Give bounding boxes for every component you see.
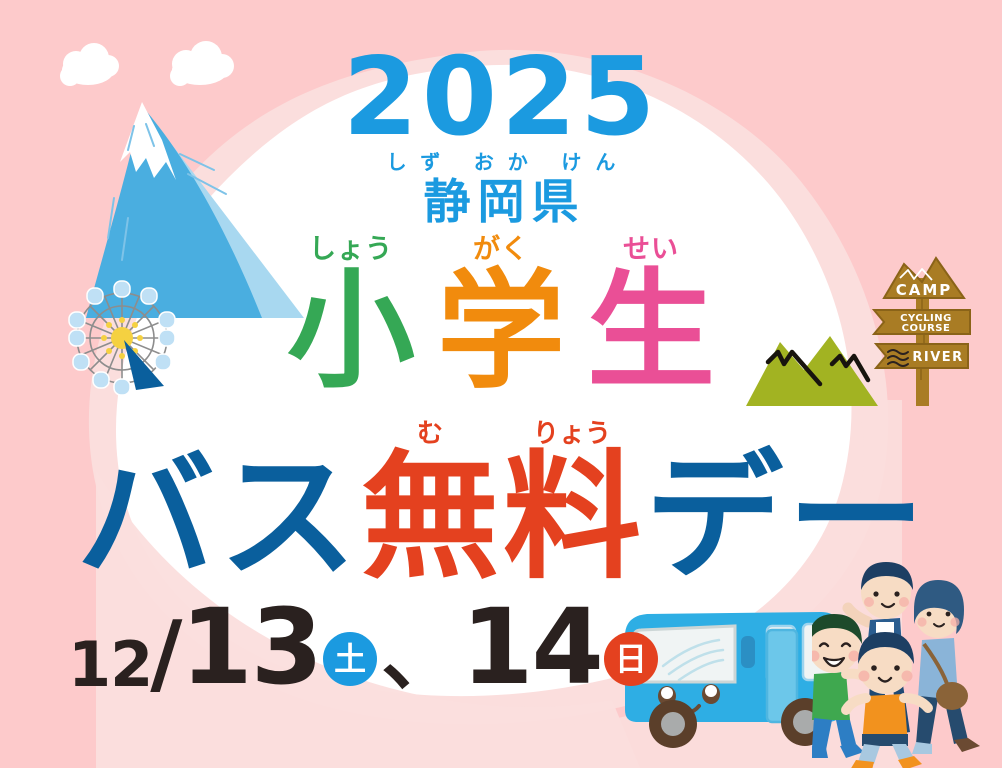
grade-char-gaku: がく 学	[437, 236, 565, 398]
grade-furigana-sho: しょう	[309, 236, 393, 263]
bus-mirror-right	[741, 636, 755, 668]
grade-char-sho: しょう 小	[287, 236, 415, 398]
prefecture-block: しず おか けん 静岡県	[0, 152, 1002, 228]
weekday-badge-saturday: 土	[323, 632, 377, 686]
headline-char-de: デ	[645, 446, 783, 589]
grade-furigana-gaku: がく	[473, 236, 529, 263]
date-separator: 、	[381, 618, 459, 696]
date-slash: /	[150, 612, 182, 696]
headline-char-dash: ー	[787, 446, 925, 589]
weekday-badge-sunday: 日	[604, 632, 658, 686]
grade-kanji-sho: 小	[287, 267, 415, 398]
headline-kanji-ryo: 料	[503, 448, 641, 589]
headline-char-mu: む 無	[361, 420, 499, 589]
date-block: 12 / 13 土 、 14 日	[68, 600, 660, 696]
grade-char-sei: せい 生	[587, 236, 715, 398]
headline-kanji-mu: 無	[361, 448, 499, 589]
headline-char-su: ス	[219, 446, 357, 589]
prefecture-furigana: しず おか けん	[14, 152, 1002, 174]
grade-kanji-gaku: 学	[437, 267, 565, 398]
grade-kanji-sei: 生	[587, 267, 715, 398]
poster-canvas: CAMP CYCLING COURSE RIVER	[0, 0, 1002, 768]
headline-char-ryo: りょう 料	[503, 420, 641, 589]
headline-kana-su: ス	[219, 448, 357, 589]
prefecture-name: 静岡県	[7, 176, 1002, 228]
date-day-first: 13	[180, 600, 321, 696]
headline-char-ba: バ	[77, 446, 215, 589]
grade-block: しょう 小 がく 学 せい 生	[0, 236, 1002, 398]
year-heading: 2025	[0, 44, 1002, 152]
family-mother	[912, 580, 980, 754]
date-day-second: 14	[461, 600, 602, 696]
date-month: 12	[68, 634, 152, 696]
headline-block: バ ス む 無 りょう 料 デ ー	[0, 420, 1002, 589]
headline-kana-ba: バ	[77, 448, 215, 589]
grade-furigana-sei: せい	[623, 236, 679, 263]
headline-kana-dash: ー	[787, 448, 925, 589]
headline-kana-de: デ	[645, 448, 783, 589]
